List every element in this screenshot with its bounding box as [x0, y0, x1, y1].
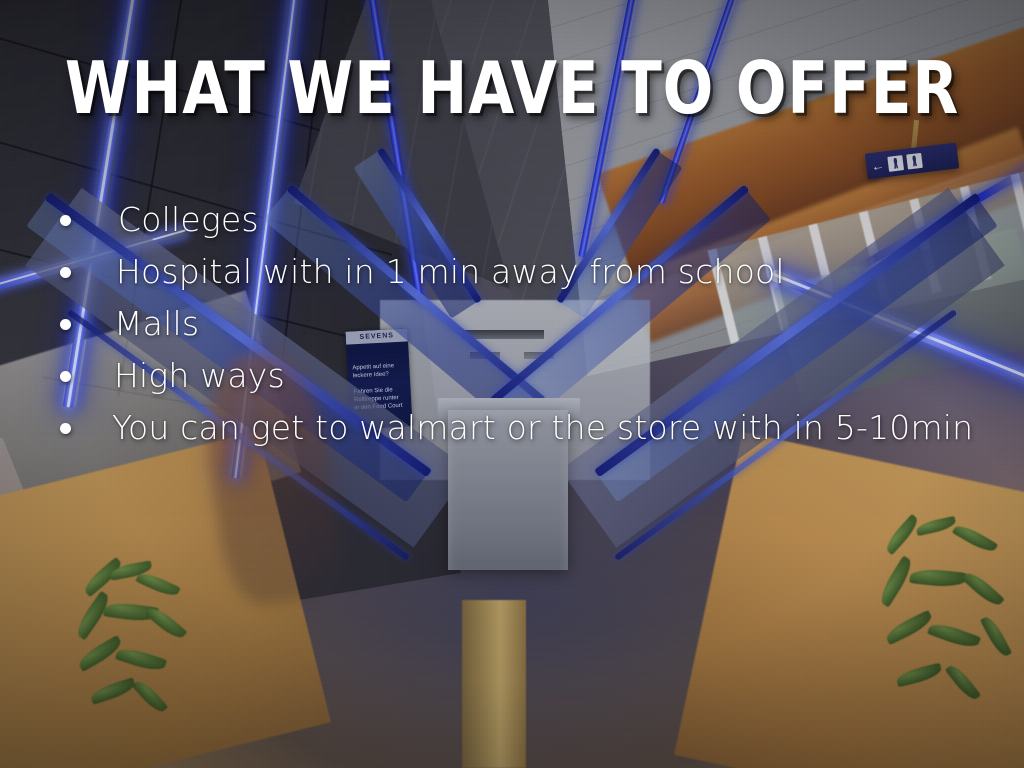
bullet-text: Malls	[114, 298, 199, 350]
bullet-list-item: You can get to walmart or the store with…	[60, 402, 1010, 454]
bullet-text: Hospital with in 1 min away from school	[116, 246, 785, 298]
bullet-text: High ways	[114, 350, 285, 402]
bullet-list-item: Colleges	[60, 194, 1010, 246]
bullet-text: Colleges	[118, 194, 259, 246]
bullet-dot-icon	[60, 423, 71, 434]
bullet-text: You can get to walmart or the store with…	[112, 402, 973, 454]
bullet-dot-icon	[60, 319, 71, 330]
bullet-dot-icon	[60, 267, 71, 278]
bullet-dot-icon	[60, 371, 71, 382]
bullet-list-item: Malls	[60, 298, 1010, 350]
slide-content: WHAT WE HAVE TO OFFER Colleges Hospital …	[0, 0, 1024, 768]
bullet-dot-icon	[60, 215, 71, 226]
bullet-list-item: Hospital with in 1 min away from school	[60, 246, 1010, 298]
bullet-list: Colleges Hospital with in 1 min away fro…	[60, 194, 1010, 454]
presentation-slide: SEVENS Appetit auf eine leckere Idee? Fa…	[0, 0, 1024, 768]
slide-title: WHAT WE HAVE TO OFFER	[41, 52, 983, 124]
bullet-list-item: High ways	[60, 350, 1010, 402]
